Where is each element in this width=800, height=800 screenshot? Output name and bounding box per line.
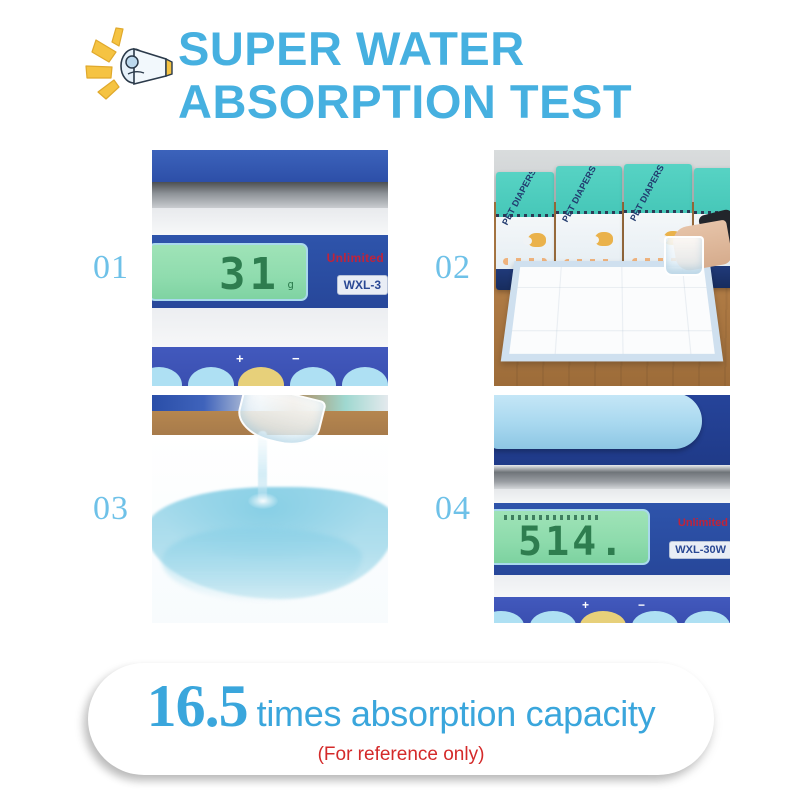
- scale-key: [684, 611, 730, 623]
- water-splash: [248, 493, 278, 509]
- scale-key: [152, 367, 182, 386]
- banner-headline: 16.5 times absorption capacity: [147, 672, 656, 741]
- step-item-01: 01 31 g Unlimited WXL-3 + −: [70, 150, 388, 386]
- steps-grid: 01 31 g Unlimited WXL-3 + −: [0, 150, 800, 650]
- scale-key-print: [238, 367, 284, 386]
- scale-model-01: WXL-3: [337, 275, 388, 295]
- dog-illustration: [528, 233, 546, 247]
- scale-key: [188, 367, 234, 386]
- scale-plus-label-04: +: [582, 598, 589, 612]
- absorption-figure: 16.5: [147, 672, 248, 741]
- scale-reading-01: 31: [219, 249, 280, 300]
- scale-model-04: WXL-30W: [669, 541, 730, 559]
- absorption-caption: times absorption capacity: [257, 693, 656, 735]
- result-banner: 16.5 times absorption capacity (For refe…: [88, 663, 714, 775]
- step-number-02: 02: [412, 150, 494, 386]
- scale-brand-04: Unlimited: [678, 517, 728, 529]
- scale-key: [342, 367, 388, 386]
- megaphone-icon: [82, 26, 174, 104]
- scale-platform-top: [152, 150, 388, 182]
- header: SUPER WATER ABSORPTION TEST: [0, 8, 800, 140]
- scale-control-panel-01: 31 g Unlimited WXL-3: [152, 235, 388, 308]
- water-glass: [664, 236, 704, 276]
- scale-metal-bar: [152, 182, 388, 208]
- title-line-1: SUPER WATER: [178, 22, 718, 75]
- infographic-page: SUPER WATER ABSORPTION TEST 01 31 g Unli…: [0, 0, 800, 800]
- step-photo-02: PET DIAPERS PET DIAPERS PET DIAPERS: [494, 150, 730, 386]
- step-item-04: 04 514. Unlimited WXL-30W +: [412, 395, 730, 623]
- scale-minus-label-01: −: [292, 351, 300, 366]
- step-number-04: 04: [412, 395, 494, 623]
- step-photo-03: [152, 395, 388, 623]
- scale-key-hold: [290, 367, 336, 386]
- scale-control-panel-04: 514. Unlimited WXL-30W: [494, 503, 730, 575]
- scale-button-bar-04: + − 打印 保留: [494, 597, 730, 623]
- scale-lcd-01: 31 g: [152, 243, 308, 301]
- scale-key: [494, 611, 524, 623]
- scale-key: [530, 611, 576, 623]
- scale-metal-bar: [494, 465, 730, 489]
- scale-key-hold: 保留: [632, 611, 678, 623]
- soaked-pad-roll: [494, 395, 702, 449]
- page-title: SUPER WATER ABSORPTION TEST: [178, 22, 718, 128]
- step-number-01: 01: [70, 150, 152, 386]
- scale-plus-label-01: +: [236, 351, 244, 366]
- scale-lcd-04: 514.: [494, 509, 650, 565]
- pee-pad: [501, 261, 723, 361]
- scale-key-print: 打印: [580, 611, 626, 623]
- step-photo-01: 31 g Unlimited WXL-3 + −: [152, 150, 388, 386]
- scale-button-bar-01: + −: [152, 347, 388, 386]
- step-number-03: 03: [70, 395, 152, 623]
- title-line-2: ABSORPTION TEST: [178, 75, 718, 128]
- scale-brand-01: Unlimited: [327, 251, 384, 265]
- scale-unit-01: g: [287, 278, 294, 291]
- dog-illustration: [595, 232, 613, 246]
- step-item-03: 03: [70, 395, 388, 623]
- step-item-02: 02 PET DIAPERS PET DIAPERS: [412, 150, 730, 386]
- step-photo-04: 514. Unlimited WXL-30W + − 打印 保留: [494, 395, 730, 623]
- scale-minus-label-04: −: [638, 598, 645, 612]
- scale-reading-04: 514.: [518, 519, 626, 565]
- disclaimer-note: (For reference only): [318, 744, 485, 766]
